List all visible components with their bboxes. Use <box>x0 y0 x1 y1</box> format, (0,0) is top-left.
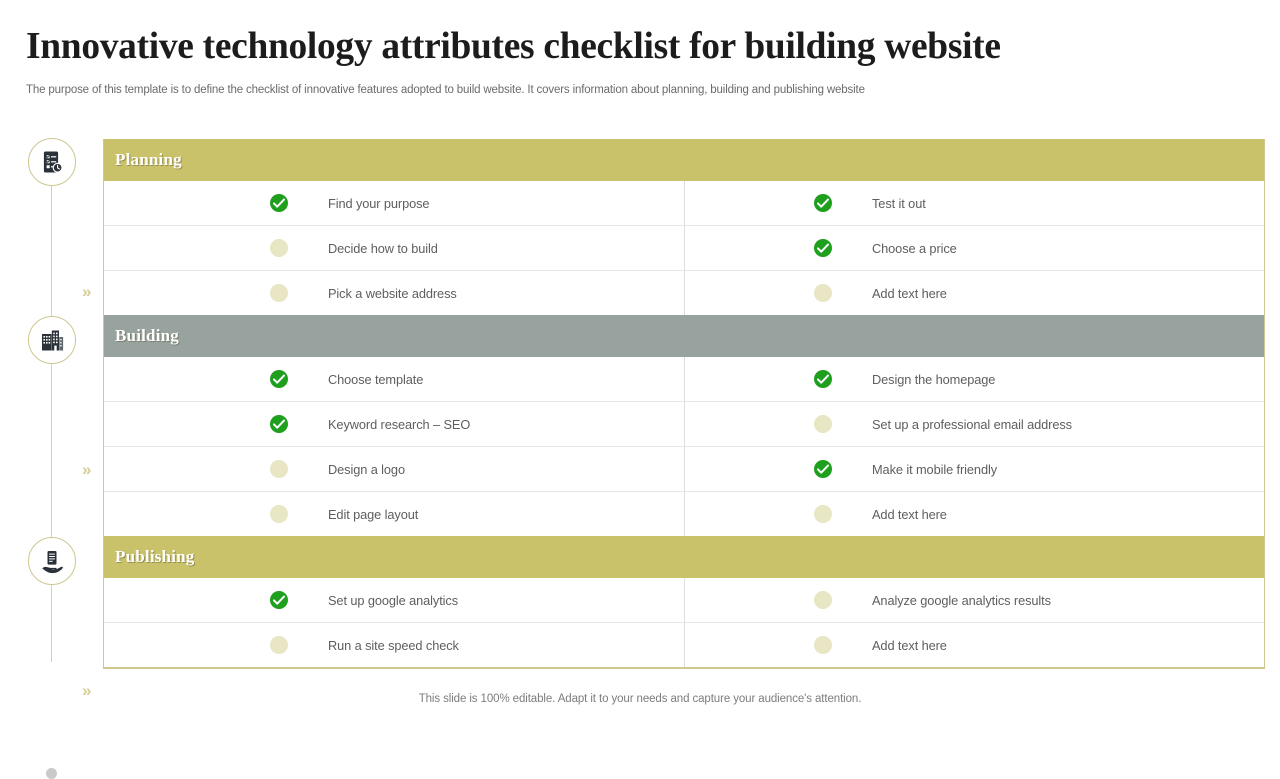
checklist-item-label: Add text here <box>872 286 947 301</box>
page-subtitle: The purpose of this template is to defin… <box>26 83 865 98</box>
office-building-icon <box>39 328 66 353</box>
table-row: Choose template Design the homepage <box>104 357 1264 402</box>
empty-circle-icon[interactable] <box>270 636 288 654</box>
chevron-planning-icon: » <box>82 282 104 302</box>
table-row: Design a logo Make it mobile friendly <box>104 447 1264 492</box>
checklist-item[interactable]: Pick a website address <box>104 271 684 315</box>
checklist-item[interactable]: Choose template <box>104 357 684 401</box>
empty-circle-icon[interactable] <box>270 239 288 257</box>
checklist-item[interactable]: Find your purpose <box>104 181 684 225</box>
checklist-item-label: Design the homepage <box>872 372 995 387</box>
checklist-clock-icon <box>39 149 65 175</box>
table-row: Edit page layout Add text here <box>104 492 1264 536</box>
empty-circle-icon[interactable] <box>270 505 288 523</box>
checklist-item[interactable]: Test it out <box>684 181 1264 225</box>
page-title: Innovative technology attributes checkli… <box>26 24 1001 68</box>
section-title-building: Building <box>115 326 179 346</box>
checklist-item-label: Pick a website address <box>328 286 457 301</box>
checklist-item-label: Design a logo <box>328 462 405 477</box>
section-rows-planning: Find your purpose Test it out Decide how… <box>104 181 1264 315</box>
section-title-publishing: Publishing <box>115 547 195 567</box>
empty-circle-icon[interactable] <box>270 460 288 478</box>
section-header-planning: Planning <box>104 139 1264 181</box>
empty-circle-icon[interactable] <box>814 636 832 654</box>
empty-circle-icon[interactable] <box>814 505 832 523</box>
check-circle-icon[interactable] <box>814 194 832 212</box>
checklist-item[interactable]: Set up a professional email address <box>684 402 1264 446</box>
checklist-item-label: Run a site speed check <box>328 638 459 653</box>
checklist-item-label: Analyze google analytics results <box>872 593 1051 608</box>
check-circle-icon[interactable] <box>270 591 288 609</box>
checklist-table: Planning Find your purpose Test it out D… <box>103 139 1265 669</box>
chevron-building-icon: » <box>82 460 104 480</box>
checklist-item-label: Find your purpose <box>328 196 429 211</box>
empty-circle-icon[interactable] <box>270 284 288 302</box>
checklist-item-label: Choose template <box>328 372 423 387</box>
checklist-item[interactable]: Keyword research – SEO <box>104 402 684 446</box>
hand-holding-document-icon <box>39 548 66 574</box>
checklist-item-label: Edit page layout <box>328 507 418 522</box>
checklist-item[interactable]: Choose a price <box>684 226 1264 270</box>
checklist-item-label: Decide how to build <box>328 241 438 256</box>
table-row: Set up google analytics Analyze google a… <box>104 578 1264 623</box>
check-circle-icon[interactable] <box>814 460 832 478</box>
table-row: Find your purpose Test it out <box>104 181 1264 226</box>
checklist-item-label: Choose a price <box>872 241 957 256</box>
empty-circle-icon[interactable] <box>814 591 832 609</box>
checklist-item-label: Make it mobile friendly <box>872 462 997 477</box>
check-circle-icon[interactable] <box>270 370 288 388</box>
table-row: Pick a website address Add text here <box>104 271 1264 315</box>
checklist-item-label: Add text here <box>872 507 947 522</box>
table-row: Keyword research – SEO Set up a professi… <box>104 402 1264 447</box>
checklist-item[interactable]: Analyze google analytics results <box>684 578 1264 622</box>
checklist-item[interactable]: Decide how to build <box>104 226 684 270</box>
section-rows-publishing: Set up google analytics Analyze google a… <box>104 578 1264 667</box>
checklist-item[interactable]: Add text here <box>684 271 1264 315</box>
checklist-item[interactable]: Add text here <box>684 623 1264 667</box>
checklist-item[interactable]: Add text here <box>684 492 1264 536</box>
table-row: Run a site speed check Add text here <box>104 623 1264 667</box>
checklist-item-label: Add text here <box>872 638 947 653</box>
empty-circle-icon[interactable] <box>814 415 832 433</box>
section-rows-building: Choose template Design the homepage Keyw… <box>104 357 1264 536</box>
checklist-item-label: Set up a professional email address <box>872 417 1072 432</box>
timeline-end-dot <box>46 768 57 779</box>
checklist-item-label: Test it out <box>872 196 926 211</box>
checklist-item-label: Set up google analytics <box>328 593 458 608</box>
section-header-publishing: Publishing <box>104 536 1264 578</box>
check-circle-icon[interactable] <box>814 370 832 388</box>
checklist-item[interactable]: Design the homepage <box>684 357 1264 401</box>
check-circle-icon[interactable] <box>270 194 288 212</box>
checklist-item-label: Keyword research – SEO <box>328 417 470 432</box>
timeline-node-planning[interactable] <box>28 138 76 186</box>
timeline-node-publishing[interactable] <box>28 537 76 585</box>
empty-circle-icon[interactable] <box>814 284 832 302</box>
footer-note: This slide is 100% editable. Adapt it to… <box>0 693 1280 705</box>
timeline-rail: » <box>0 130 104 670</box>
checklist-item[interactable]: Run a site speed check <box>104 623 684 667</box>
checklist-item[interactable]: Edit page layout <box>104 492 684 536</box>
section-title-planning: Planning <box>115 150 182 170</box>
check-circle-icon[interactable] <box>270 415 288 433</box>
table-row: Decide how to build Choose a price <box>104 226 1264 271</box>
checklist-item[interactable]: Set up google analytics <box>104 578 684 622</box>
checklist-item[interactable]: Make it mobile friendly <box>684 447 1264 491</box>
check-circle-icon[interactable] <box>814 239 832 257</box>
checklist-item[interactable]: Design a logo <box>104 447 684 491</box>
timeline-node-building[interactable] <box>28 316 76 364</box>
section-header-building: Building <box>104 315 1264 357</box>
